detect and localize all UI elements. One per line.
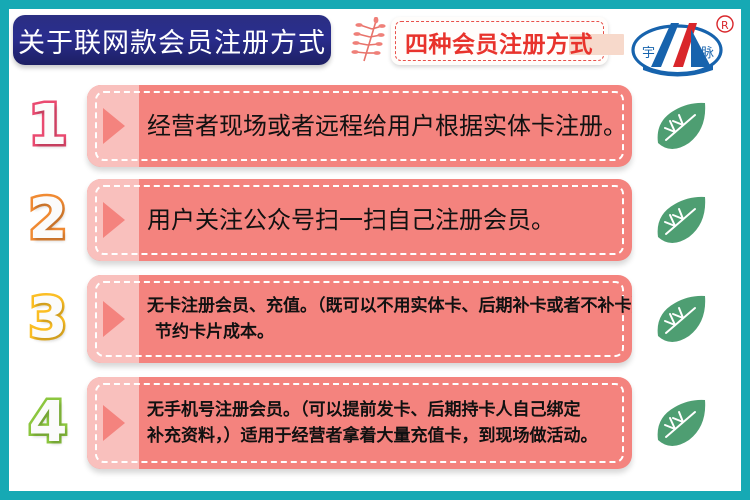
leaf-icon: [653, 396, 711, 450]
row-card-1: 经营者现场或者远程给用户根据实体卡注册。: [87, 85, 632, 167]
row-number-4: 4: [17, 377, 79, 469]
card-arrow: [103, 202, 125, 238]
row-text-2: 用户关注公众号扫一扫自己注册会员。: [147, 179, 610, 261]
leaf-icon: [653, 292, 711, 346]
row-text-line: 无卡注册会员、充值。（既可以不用实体卡、后期补卡或者不补卡）: [147, 293, 610, 319]
row-text-1: 经营者现场或者远程给用户根据实体卡注册。: [147, 85, 610, 167]
row-text-3: 无卡注册会员、充值。（既可以不用实体卡、后期补卡或者不补卡） 节约卡片成本。: [147, 275, 610, 363]
card-arrow: [103, 108, 125, 144]
frame-border-left: [0, 0, 9, 500]
leaf-icon: [653, 99, 711, 153]
list-item: 2 用户关注公众号扫一扫自己注册会员。: [9, 179, 741, 261]
row-card-4: 无手机号注册会员。（可以提前发卡、后期持卡人自己绑定 补充资料，）适用于经营者拿…: [87, 377, 632, 469]
poster-inner: 关于联网款会员注册方式: [9, 9, 741, 491]
row-text-line: 用户关注公众号扫一扫自己注册会员。: [147, 205, 610, 235]
card-arrow: [103, 301, 125, 337]
frame-border-top: [0, 0, 750, 9]
page-title: 关于联网款会员注册方式: [18, 21, 326, 60]
frame-border-bottom: [0, 491, 750, 500]
row-text-line: 无手机号注册会员。（可以提前发卡、后期持卡人自己绑定: [147, 397, 610, 423]
subtitle-text: 四种会员注册方式: [399, 25, 599, 59]
row-text-line: 节约卡片成本。: [147, 319, 610, 345]
sprig-icon: [350, 17, 390, 65]
row-number-1: 1: [17, 85, 79, 167]
trademark-symbol: R: [721, 19, 729, 32]
poster-root: 关于联网款会员注册方式: [0, 0, 750, 500]
page-title-pill: 关于联网款会员注册方式: [13, 15, 331, 65]
leaf-icon: [653, 193, 711, 247]
header: 关于联网款会员注册方式: [9, 9, 741, 81]
yumai-logo: 宇 脉 R: [617, 9, 741, 81]
row-number-2: 2: [17, 179, 79, 261]
row-text-line: 经营者现场或者远程给用户根据实体卡注册。: [147, 111, 610, 141]
list-item: 1 经营者现场或者远程给用户根据实体卡注册。: [9, 85, 741, 167]
frame-border-right: [741, 0, 750, 500]
row-card-2: 用户关注公众号扫一扫自己注册会员。: [87, 179, 632, 261]
logo-right-char: 脉: [701, 46, 714, 61]
row-card-3: 无卡注册会员、充值。（既可以不用实体卡、后期补卡或者不补卡） 节约卡片成本。: [87, 275, 632, 363]
row-text-line: 补充资料，）适用于经营者拿着大量充值卡，到现场做活动。: [147, 423, 610, 449]
card-arrow: [103, 405, 125, 441]
logo-left-char: 宇: [642, 46, 655, 61]
list-item: 4 无手机号注册会员。（可以提前发卡、后期持卡人自己绑定 补充资料，）适用于经营…: [9, 377, 741, 469]
row-number-3: 3: [17, 275, 79, 363]
list-item: 3 无卡注册会员、充值。（既可以不用实体卡、后期补卡或者不补卡） 节约卡片成本。: [9, 275, 741, 363]
row-text-4: 无手机号注册会员。（可以提前发卡、后期持卡人自己绑定 补充资料，）适用于经营者拿…: [147, 377, 610, 469]
